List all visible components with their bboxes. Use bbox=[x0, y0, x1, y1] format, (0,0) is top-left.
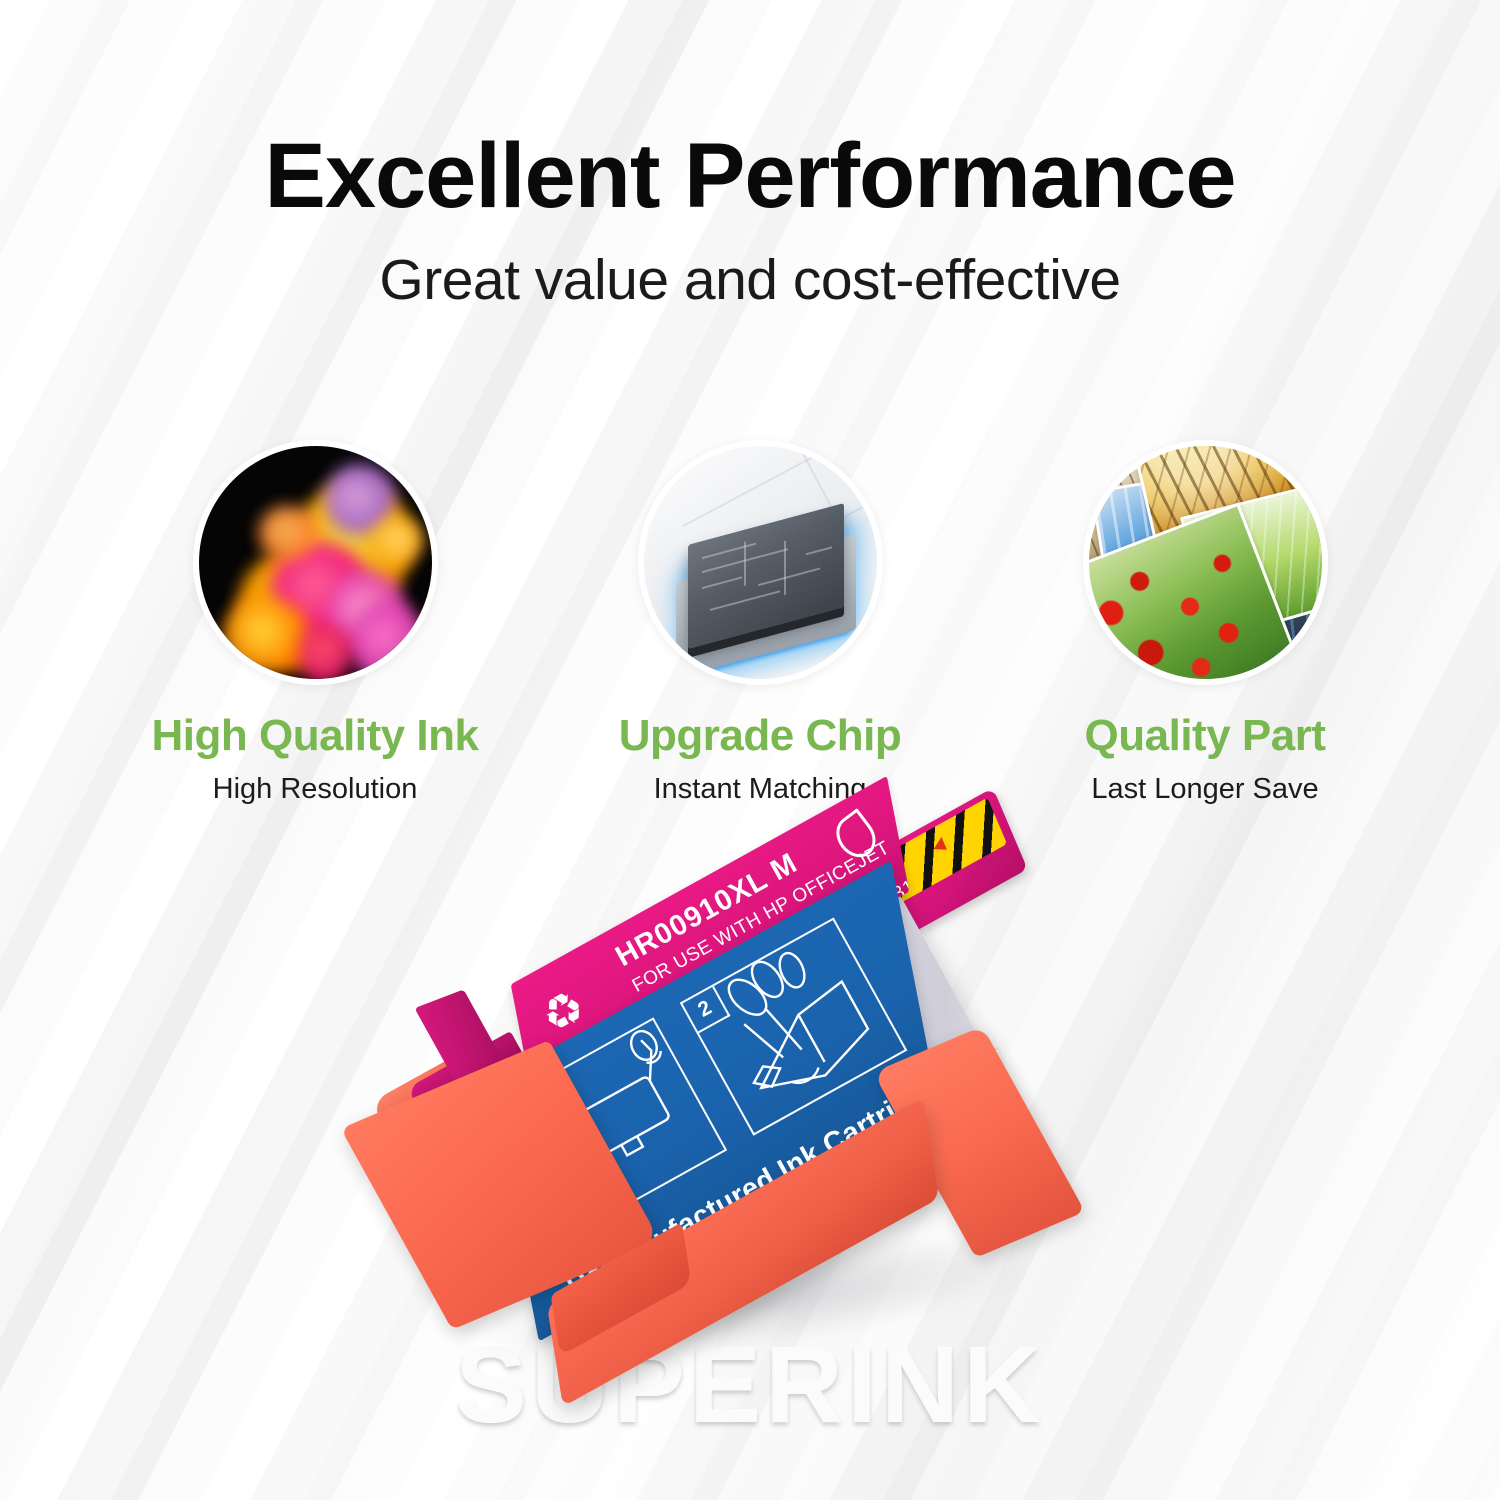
photo-collage-icon bbox=[1083, 440, 1328, 685]
feature-item-high-quality-ink: High Quality Ink High Resolution bbox=[150, 440, 480, 806]
tape-arrow-icon bbox=[931, 837, 947, 856]
feature-list: High Quality Ink High Resolution Upgrade… bbox=[150, 440, 1370, 806]
page-title: Excellent Performance bbox=[0, 128, 1500, 225]
feature-title: High Quality Ink bbox=[152, 711, 479, 761]
ink-cartridge-product-image: www. .com/buy/i ♻ HR00910XL M FOR USE WI… bbox=[360, 800, 1160, 1400]
header-block: Excellent Performance Great value and co… bbox=[0, 128, 1500, 313]
page-subtitle: Great value and cost-effective bbox=[0, 247, 1500, 313]
feature-item-upgrade-chip: Upgrade Chip Instant Matching bbox=[595, 440, 925, 806]
product-feature-banner: Excellent Performance Great value and co… bbox=[0, 0, 1500, 1500]
ink-splash-icon bbox=[193, 440, 438, 685]
feature-item-quality-part: Quality Part Last Longer Save bbox=[1040, 440, 1370, 806]
microchip-icon bbox=[638, 440, 883, 685]
feature-title: Quality Part bbox=[1085, 711, 1326, 761]
feature-title: Upgrade Chip bbox=[619, 711, 901, 761]
